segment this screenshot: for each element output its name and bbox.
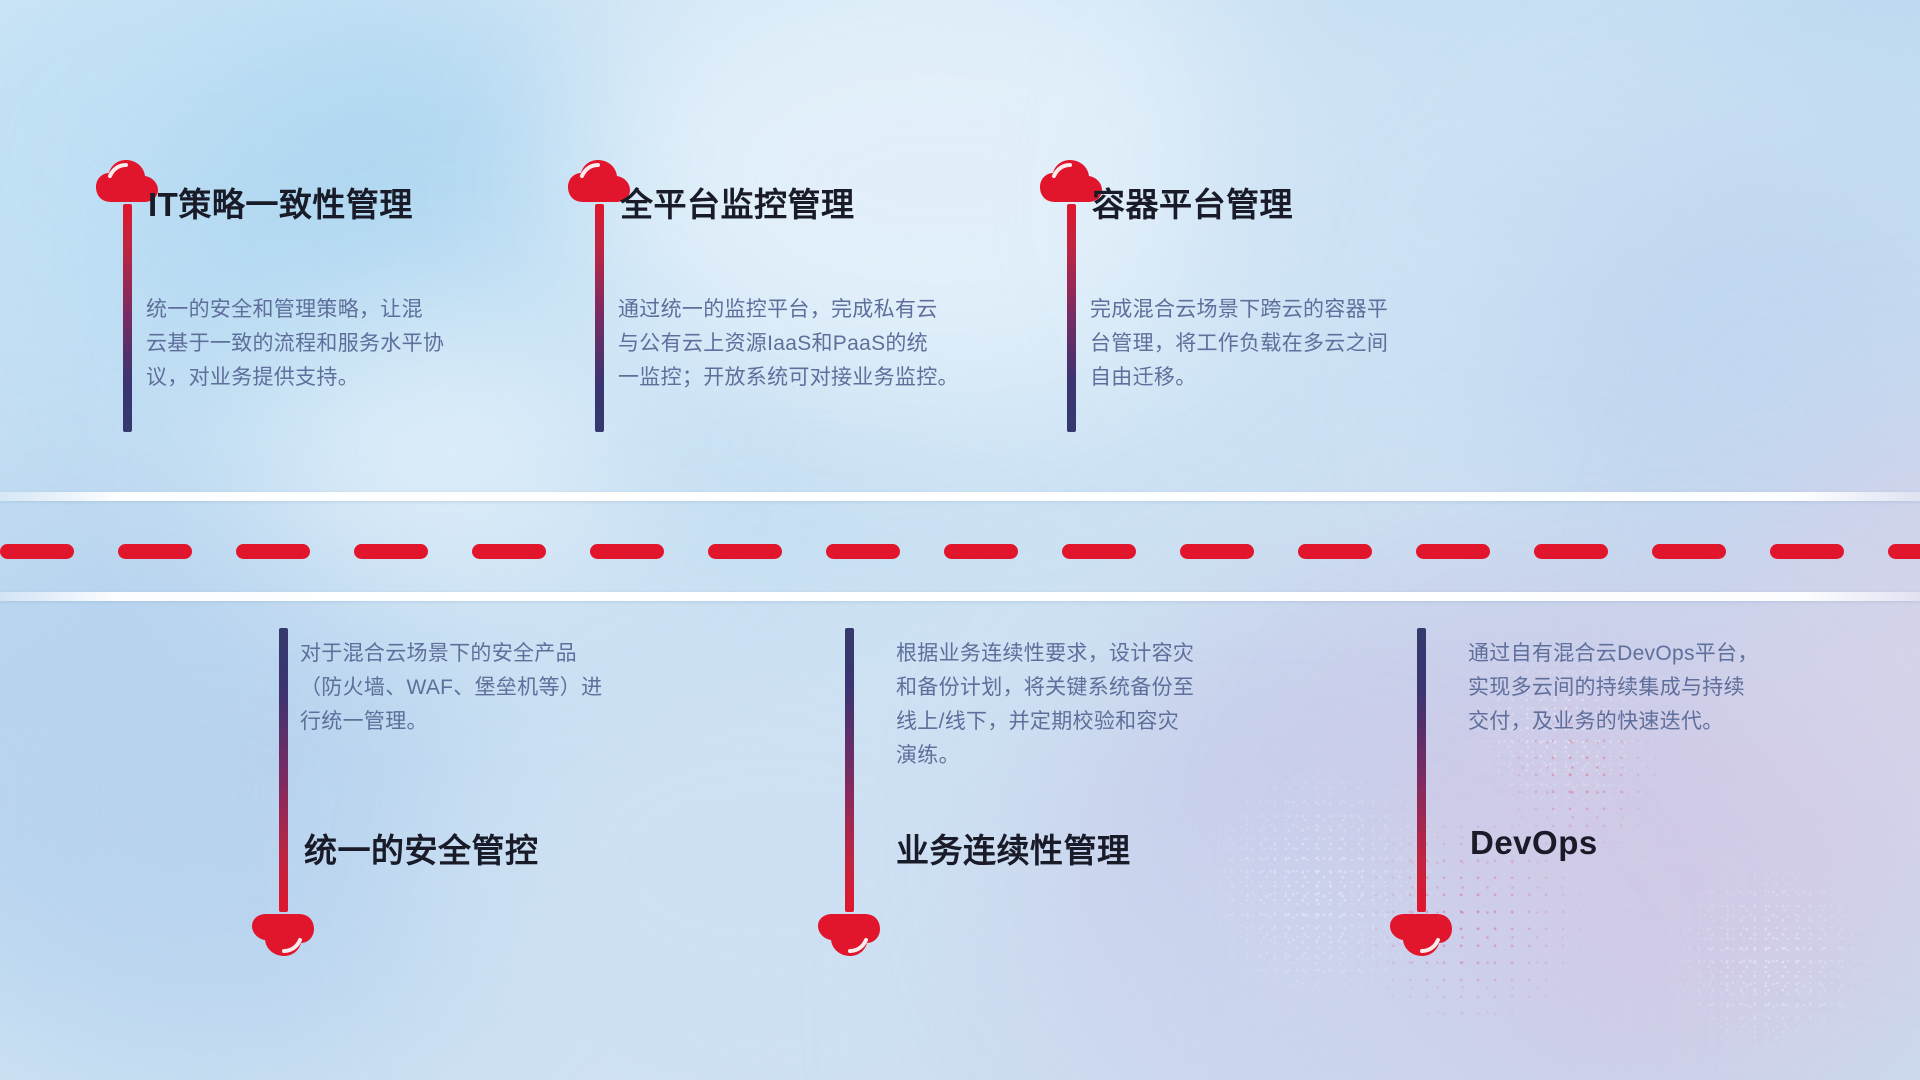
road-dash-segment [708,544,782,559]
road-dash-segment [236,544,310,559]
road-dash-segment [0,544,74,559]
road-dash-segment [1180,544,1254,559]
divider-line-top [0,492,1920,501]
road-dash-segment [118,544,192,559]
panel-body: 根据业务连续性要求，设计容灾 和备份计划，将关键系统备份至 线上/线下，并定期校… [896,637,1276,773]
panel-body: 完成混合云场景下跨云的容器平 台管理，将工作负载在多云之间 自由迁移。 [1090,293,1460,395]
road-dash-segment [944,544,1018,559]
road-dash-segment [1416,544,1490,559]
marker-stem [123,204,132,432]
panel-title: IT策略一致性管理 [148,178,413,226]
panel-title: 容器平台管理 [1092,178,1293,226]
marker-stem [595,204,604,432]
road-dash-segment [1534,544,1608,559]
divider-line-bottom [0,592,1920,601]
road-dash-segment [1888,544,1920,559]
infographic-canvas: IT策略一致性管理 统一的安全和管理策略，让混 云基于一致的流程和服务水平协 议… [0,0,1920,1080]
road-dash-segment [1652,544,1726,559]
cloud-icon [252,912,314,956]
road-dash-segment [826,544,900,559]
panel-title: 统一的安全管控 [304,824,539,872]
marker-stem [279,628,288,912]
panel-title: 业务连续性管理 [896,824,1131,872]
panel-body: 通过统一的监控平台，完成私有云 与公有云上资源IaaS和PaaS的统 一监控；开… [618,293,998,395]
marker-stem [1417,628,1426,912]
road-dash-segment [1298,544,1372,559]
panel-title: DevOps [1470,824,1598,862]
cloud-icon [1390,912,1452,956]
marker-stem [845,628,854,912]
road-dash-segment [1770,544,1844,559]
road-dash-segment [590,544,664,559]
panel-body: 通过自有混合云DevOps平台， 实现多云间的持续集成与持续 交付，及业务的快速… [1468,637,1838,739]
marker-business-continuity[interactable] [818,628,880,956]
marker-stem [1067,204,1076,432]
dashed-road-divider [0,544,1920,559]
road-dash-segment [354,544,428,559]
panel-body: 对于混合云场景下的安全产品 （防火墙、WAF、堡垒机等）进 行统一管理。 [300,637,680,739]
panel-title: 全平台监控管理 [620,178,855,226]
marker-devops[interactable] [1390,628,1452,956]
road-dash-segment [1062,544,1136,559]
road-dash-segment [472,544,546,559]
panel-body: 统一的安全和管理策略，让混 云基于一致的流程和服务水平协 议，对业务提供支持。 [146,293,506,395]
cloud-icon [818,912,880,956]
speckle-texture [1640,860,1900,1060]
